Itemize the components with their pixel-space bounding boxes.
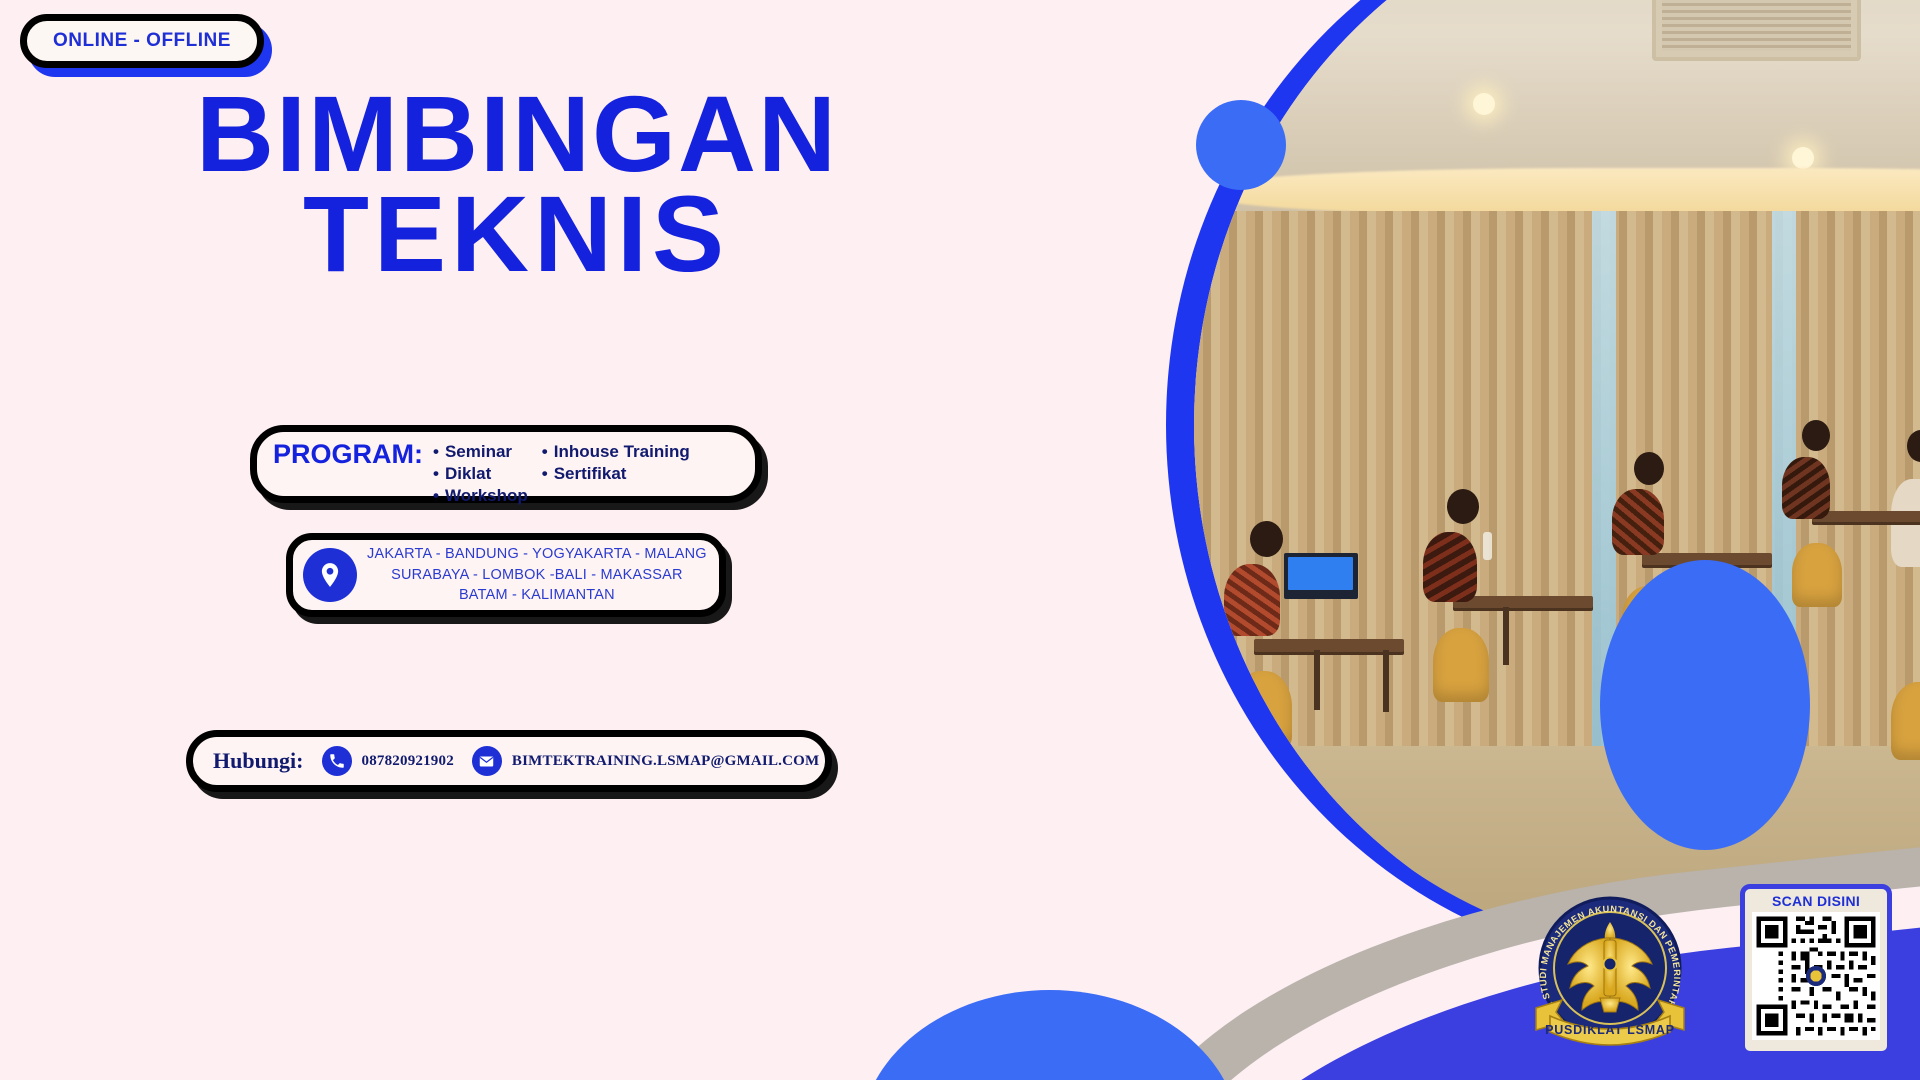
pusdiklat-lsmap-logo: LEMBAGA STUDI MANAJEMEN AKUNTANSI DAN PE…	[1522, 888, 1698, 1064]
qr-code-icon	[1752, 912, 1880, 1040]
page-title-line1: BIMBINGAN	[196, 84, 836, 184]
program-item: Workshop	[433, 486, 528, 506]
online-offline-badge: ONLINE - OFFLINE	[20, 14, 264, 68]
contact-phone[interactable]: 087820921902	[322, 746, 454, 776]
poster-root: ONLINE - OFFLINE BIMBINGAN TEKNIS PROGRA…	[0, 0, 1920, 1080]
blue-circle-middle-decoration	[1600, 560, 1810, 850]
contact-email[interactable]: BIMTEKTRAINING.LSMAP@GMAIL.COM	[472, 746, 819, 776]
location-line: BATAM - KALIMANTAN	[367, 585, 707, 606]
qr-title: SCAN DISINI	[1772, 893, 1860, 909]
seminar-photo-image	[1194, 0, 1920, 960]
contact-card: Hubungi: 087820921902 BIMTEKTRAINING.LSM…	[186, 730, 832, 792]
program-item: Diklat	[433, 464, 528, 484]
contact-label: Hubungi:	[213, 748, 304, 774]
program-item: Seminar	[433, 442, 528, 462]
blue-circle-top-decoration	[1196, 100, 1286, 190]
online-offline-badge-label: ONLINE - OFFLINE	[53, 30, 231, 51]
program-column-2: Inhouse Training Sertifikat	[542, 442, 690, 506]
location-card: JAKARTA - BANDUNG - YOGYAKARTA - MALANG …	[286, 533, 726, 617]
qr-card[interactable]: SCAN DISINI	[1740, 884, 1892, 1056]
seminar-photo	[1180, 0, 1920, 960]
blue-circle-bottom-decoration	[860, 990, 1240, 1080]
envelope-icon	[472, 746, 502, 776]
program-item: Sertifikat	[542, 464, 690, 484]
phone-icon	[322, 746, 352, 776]
page-title: BIMBINGAN TEKNIS	[196, 84, 836, 285]
logo-ribbon-text: PUSDIKLAT LSMAP	[1545, 1023, 1675, 1037]
program-label: PROGRAM:	[273, 440, 423, 468]
page-title-line2: TEKNIS	[196, 184, 836, 284]
program-item: Inhouse Training	[542, 442, 690, 462]
phone-number: 087820921902	[362, 753, 454, 770]
program-column-1: Seminar Diklat Workshop	[433, 442, 528, 506]
location-line: SURABAYA - LOMBOK -BALI - MAKASSAR	[367, 565, 707, 586]
program-card: PROGRAM: Seminar Diklat Workshop Inhouse…	[250, 425, 762, 503]
map-pin-icon	[303, 548, 357, 602]
email-address: BIMTEKTRAINING.LSMAP@GMAIL.COM	[512, 753, 819, 770]
location-line: JAKARTA - BANDUNG - YOGYAKARTA - MALANG	[367, 544, 707, 565]
